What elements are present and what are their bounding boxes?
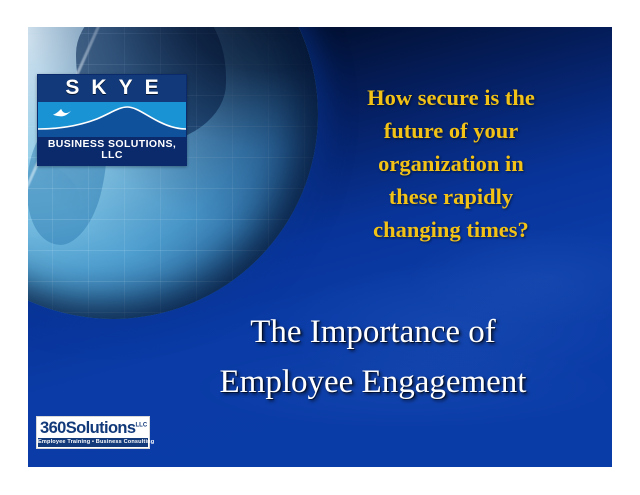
question-line: these rapidly xyxy=(314,180,588,213)
solutions-logo-name: 360SolutionsLLC xyxy=(38,418,148,437)
question-line: changing times? xyxy=(314,213,588,246)
headline-question: How secure is the future of your organiz… xyxy=(314,81,588,246)
solutions-logo-tagline: Employee Training • Business Consulting xyxy=(38,438,148,447)
question-line: organization in xyxy=(314,147,588,180)
solutions-logo: 360SolutionsLLC Employee Training • Busi… xyxy=(36,416,150,449)
slide-canvas: SKYE BUSINESS SOLUTIONS, LLC How secure … xyxy=(28,27,612,467)
page-title: The Importance of Employee Engagement xyxy=(138,307,608,407)
skye-logo-tagline: BUSINESS SOLUTIONS, LLC xyxy=(38,137,186,165)
title-line: Employee Engagement xyxy=(138,357,608,407)
title-line: The Importance of xyxy=(138,307,608,357)
bird-icon xyxy=(52,108,72,118)
skye-logo-graphic xyxy=(38,102,186,137)
question-line: How secure is the xyxy=(314,81,588,114)
skye-logo-name: SKYE xyxy=(38,75,186,102)
solutions-logo-wordmark: 360Solutions xyxy=(40,419,136,437)
solutions-logo-trademark: LLC xyxy=(136,423,148,429)
skye-logo: SKYE BUSINESS SOLUTIONS, LLC xyxy=(37,74,187,166)
question-line: future of your xyxy=(314,114,588,147)
